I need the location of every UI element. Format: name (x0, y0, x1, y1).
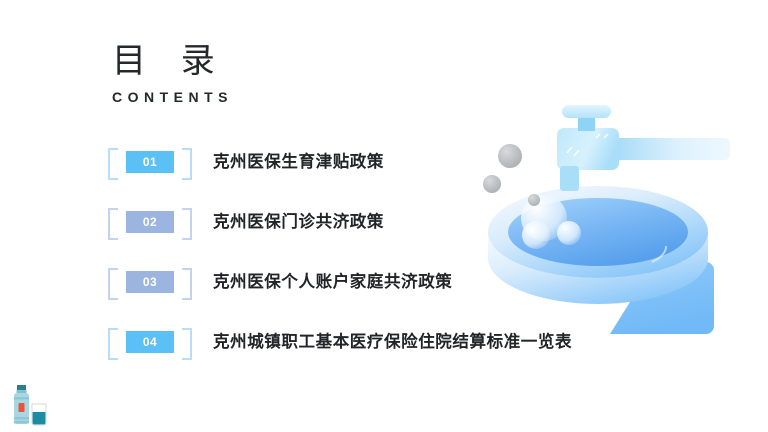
item-number-badge: 04 (126, 331, 174, 353)
page-title: 目 录 (112, 40, 233, 82)
item-number-badge: 03 (126, 271, 174, 293)
bottle-label (19, 403, 25, 412)
sink-with-faucet-illustration (470, 96, 768, 346)
item-marker-04: 04 (108, 328, 192, 356)
bracket-left-icon (108, 328, 118, 360)
page-subtitle: CONTENTS (112, 88, 233, 106)
list-item-label: 克州医保生育津贴政策 (213, 148, 384, 176)
bottle-cap-icon (17, 385, 26, 390)
faucet-body (557, 128, 619, 170)
bracket-right-icon (182, 148, 192, 180)
slide-canvas: 目 录 CONTENTS 01 克州医保生育津贴政策 02 克州医保门诊共济政策… (0, 0, 768, 432)
item-number-badge: 02 (126, 211, 174, 233)
bubbles-icon (483, 175, 501, 193)
bottle-ridge (14, 421, 29, 423)
faucet-handle (562, 105, 611, 118)
glass-water (33, 412, 46, 424)
bracket-left-icon (108, 208, 118, 240)
bracket-right-icon (182, 328, 192, 360)
bracket-right-icon (182, 208, 192, 240)
list-item-label: 克州医保个人账户家庭共济政策 (213, 268, 452, 296)
item-marker-03: 03 (108, 268, 192, 296)
bracket-right-icon (182, 268, 192, 300)
bottle-neck (17, 390, 27, 393)
faucet-pipe (612, 138, 730, 160)
bottle-ridge (14, 397, 29, 399)
bubbles-icon (498, 144, 522, 168)
bubbles-icon (522, 221, 550, 249)
bracket-left-icon (108, 268, 118, 300)
page-title-block: 目 录 CONTENTS (112, 40, 233, 106)
bubbles-icon (528, 194, 540, 206)
faucet-spout (560, 166, 579, 191)
water-bottle-and-glass-logo (8, 382, 54, 428)
list-item-label: 克州医保门诊共济政策 (213, 208, 384, 236)
bottle-ridge (14, 417, 29, 419)
bracket-left-icon (108, 148, 118, 180)
item-marker-02: 02 (108, 208, 192, 236)
item-marker-01: 01 (108, 148, 192, 176)
bubbles-icon (557, 221, 581, 245)
item-number-badge: 01 (126, 151, 174, 173)
